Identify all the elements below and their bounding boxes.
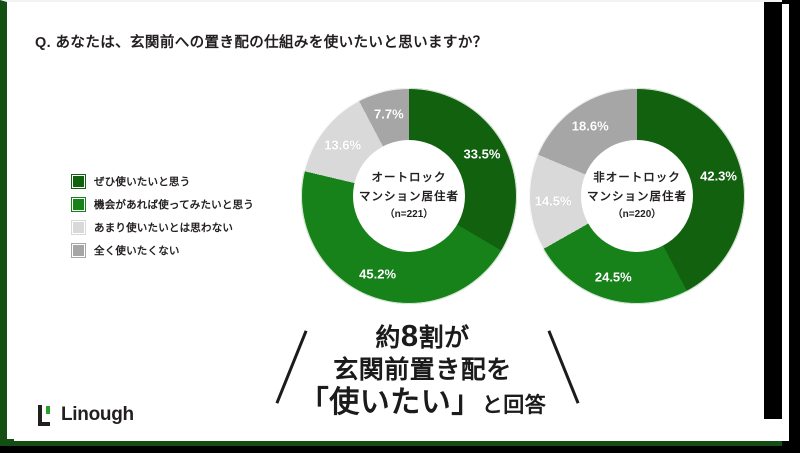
callout-suffix: 割が [419,324,470,352]
legend-item-label: 機会があれば使ってみたいと思う [94,197,254,212]
slide-frame: Q. あなたは、玄関前への置き配の仕組みを使いたいと思いますか？ ぜひ使いたいと… [0,0,782,446]
legend-item-label: ぜひ使いたいと思う [94,174,190,189]
donut-center-line1: 非オートロック [593,169,681,188]
donut-center-line2: マンション居住者 [587,188,687,207]
donut-center-label: オートロック マンション居住者 （n=221） [353,140,465,252]
donut-chart-autolock: オートロック マンション居住者 （n=221） 33.5% 45.2% 13.6… [301,88,517,304]
linough-mark-icon [38,405,55,426]
donut-segment-label: 14.5% [535,194,572,209]
legend-item-label: 全く使いたくない [94,243,180,258]
right-edge-band [764,2,782,419]
legend-swatch-icon [72,198,85,211]
callout-number: 8 [401,318,419,353]
callout-summary: 約8割が 玄関前置き配を 「使いたい」と回答 [270,320,575,418]
donut-center-line1: オートロック [372,169,447,188]
callout-tail: と回答 [482,394,547,417]
donut-center-label: 非オートロック マンション居住者 （n=220） [581,140,693,252]
callout-quoted: 「使いたい」 [299,386,482,419]
legend-item-3[interactable]: 全く使いたくない [72,239,254,262]
chart-legend: ぜひ使いたいと思う 機会があれば使ってみたいと思う あまり使いたいとは思わない … [72,170,254,262]
legend-swatch-icon [72,244,85,257]
donut-segment-label: 7.7% [374,107,404,122]
callout-line-2: 玄関前置き配を [270,358,575,383]
donut-sample-size: （n=220） [613,207,662,223]
callout-prefix: 約 [375,324,401,352]
donut-segment-label: 33.5% [464,147,501,162]
donut-segment-label: 18.6% [572,119,609,134]
donut-center-line2: マンション居住者 [359,188,459,207]
legend-item-1[interactable]: 機会があれば使ってみたいと思う [72,193,254,216]
callout-line-1: 約8割が [270,320,575,351]
donut-chart-non-autolock: 非オートロック マンション居住者 （n=220） 42.3% 24.5% 14.… [529,88,745,304]
brand-logo-text: Linough [61,404,134,426]
page-title: Q. あなたは、玄関前への置き配の仕組みを使いたいと思いますか？ [35,31,488,52]
slide-canvas: Q. あなたは、玄関前への置き配の仕組みを使いたいと思いますか？ ぜひ使いたいと… [14,4,789,441]
legend-item-0[interactable]: ぜひ使いたいと思う [72,170,254,193]
donut-segment-label: 45.2% [359,266,396,281]
legend-item-label: あまり使いたいとは思わない [94,220,233,235]
legend-swatch-icon [72,175,85,188]
donut-segment-label: 13.6% [324,137,361,152]
donut-sample-size: （n=221） [385,207,434,223]
donut-segment-label: 24.5% [595,269,632,284]
legend-item-2[interactable]: あまり使いたいとは思わない [72,216,254,239]
donut-segment-label: 42.3% [700,168,737,183]
legend-swatch-icon [72,221,85,234]
callout-line-3: 「使いたい」と回答 [270,388,575,418]
brand-logo: Linough [38,404,134,426]
